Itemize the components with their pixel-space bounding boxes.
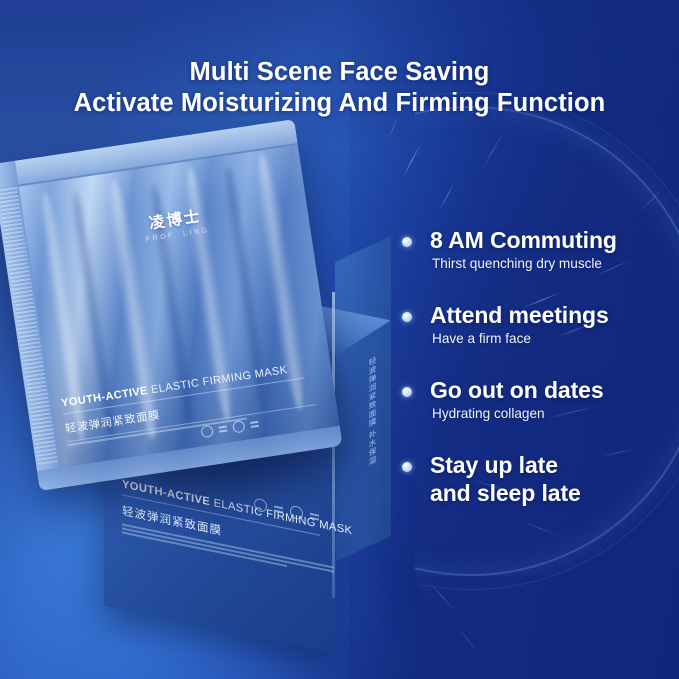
- feature-item-4: Stay up late and sleep late: [402, 451, 670, 507]
- sachet-cert-text-lines-icon: [219, 426, 228, 433]
- feature-title: Stay up late and sleep late: [430, 451, 670, 507]
- sachet-cert-badge-icon: [200, 425, 214, 439]
- bullet-dot-icon: [402, 237, 412, 247]
- feature-title: 8 AM Commuting: [430, 226, 670, 254]
- feature-item-3: Go out on dates Hydrating collagen: [402, 376, 670, 423]
- bullet-dot-icon: [402, 387, 412, 397]
- feature-title: Go out on dates: [430, 376, 670, 404]
- feature-item-2: Attend meetings Have a firm face: [402, 301, 670, 348]
- feature-title: Attend meetings: [430, 301, 670, 329]
- feature-subtitle: Thirst quenching dry muscle: [432, 255, 670, 273]
- feature-list: 8 AM Commuting Thirst quenching dry musc…: [402, 226, 670, 508]
- bullet-dot-icon: [402, 462, 412, 472]
- bullet-dot-icon: [402, 312, 412, 322]
- quality-text-lines-icon: [310, 512, 319, 520]
- sachet-quality-text-lines-icon: [250, 421, 259, 428]
- feature-subtitle: Hydrating collagen: [432, 405, 670, 423]
- headline-line-2: Activate Moisturizing And Firming Functi…: [0, 88, 679, 119]
- product-sachet: 凌博士 PROF. LING YOUTH-ACTIVE ELASTIC FIRM…: [0, 119, 343, 491]
- sachet-quality-badge-icon: [232, 420, 246, 434]
- feature-subtitle: Have a firm face: [432, 330, 670, 348]
- feature-item-1: 8 AM Commuting Thirst quenching dry musc…: [402, 226, 670, 273]
- headline-line-1: Multi Scene Face Saving: [0, 57, 679, 88]
- product-poster: Multi Scene Face Saving Activate Moistur…: [0, 0, 679, 679]
- page-title: Multi Scene Face Saving Activate Moistur…: [0, 57, 679, 119]
